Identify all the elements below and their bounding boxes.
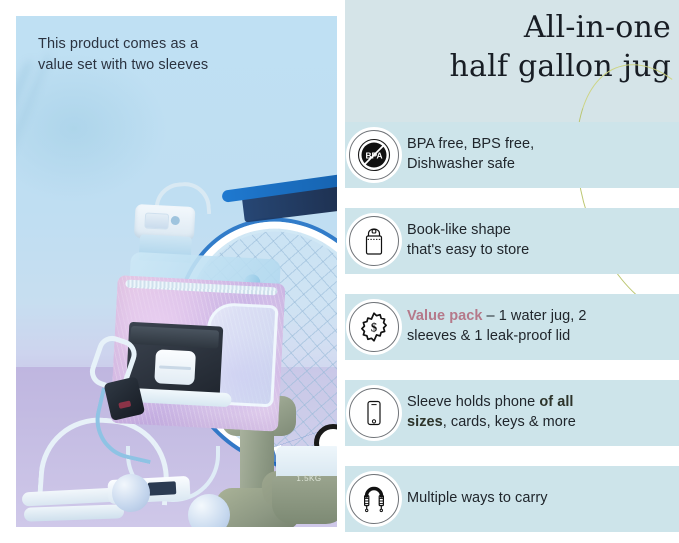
feature-line-2: Dishwasher safe (407, 155, 534, 175)
feature-text-sleeve-holds-phone: Sleeve holds phone of all sizes, cards, … (407, 393, 584, 432)
feature-line-2: that's easy to store (407, 241, 529, 261)
title-line-2: half gallon jug (351, 47, 671, 86)
feature-text-multiple-ways-to-carry: Multiple ways to carry (407, 489, 556, 509)
phone-text-em1: of all (539, 394, 573, 410)
feature-line-1: Value pack – 1 water jug, 2 (407, 307, 587, 327)
photo-caption-line-2: value set with two sleeves (38, 55, 268, 76)
feature-list: BPA BPA free, BPS free, Dishwasher safe (345, 122, 679, 543)
strap-icon (349, 474, 399, 524)
feature-line-1: BPA free, BPS free, (407, 135, 534, 155)
jug-lid-button (144, 212, 169, 229)
product-infographic: 1.5KG (0, 0, 679, 543)
feature-row-book-like-shape: Book-like shape that's easy to store (345, 208, 679, 274)
feature-line-1: Multiple ways to carry (407, 489, 548, 509)
row-spacer-1 (345, 188, 679, 208)
kettlebell-weight: 1.5KG (268, 446, 337, 524)
photo-caption: This product comes as a value set with t… (38, 34, 268, 75)
feature-text-value-pack: Value pack – 1 water jug, 2 sleeves & 1 … (407, 307, 595, 346)
row-spacer-2 (345, 274, 679, 294)
feature-line-1: Book-like shape (407, 221, 529, 241)
phone-icon (349, 388, 399, 438)
title-line-1: All-in-one (524, 10, 671, 45)
phone-text-rest: , cards, keys & more (443, 414, 576, 430)
kettlebell-body (272, 476, 337, 524)
title-block: All-in-one half gallon jug (345, 0, 679, 122)
bpa-free-icon: BPA (349, 130, 399, 180)
phone-text-pre: Sleeve holds phone (407, 394, 539, 410)
value-pack-rest: – 1 water jug, 2 (482, 308, 586, 324)
water-jug-with-sleeve (104, 189, 316, 437)
feature-row-value-pack: $ Value pack – 1 water jug, 2 sleeves & … (345, 294, 679, 360)
feature-text-bpa-free: BPA free, BPS free, Dishwasher safe (407, 135, 542, 174)
weight-label: 1.5KG (268, 474, 337, 483)
svg-text:$: $ (371, 321, 377, 335)
product-photo-frame: 1.5KG (8, 8, 345, 535)
row-spacer-3 (345, 360, 679, 380)
feature-row-bpa-free: BPA BPA free, BPS free, Dishwasher safe (345, 122, 679, 188)
feature-row-multiple-ways-to-carry: Multiple ways to carry (345, 466, 679, 532)
phone-text-em2: sizes (407, 414, 443, 430)
page-title: All-in-one half gallon jug (351, 8, 671, 86)
feature-line-2: sleeves & 1 leak-proof lid (407, 327, 587, 347)
bottle-icon (349, 216, 399, 266)
row-spacer-5 (345, 532, 679, 543)
value-pack-accent: Value pack (407, 308, 482, 324)
feature-text-book-like-shape: Book-like shape that's easy to store (407, 221, 537, 260)
row-spacer-4 (345, 446, 679, 466)
feature-line-2: sizes, cards, keys & more (407, 413, 576, 433)
info-panel: All-in-one half gallon jug BPA BPA free,… (345, 0, 679, 543)
photo-caption-line-1: This product comes as a (38, 34, 268, 55)
rope-handle-2 (24, 504, 124, 521)
feature-line-1: Sleeve holds phone of all (407, 393, 576, 413)
rope-handle-1 (22, 487, 119, 506)
product-photo: 1.5KG (16, 16, 337, 527)
jump-rope-counter-screen (148, 481, 177, 495)
value-badge-icon: $ (349, 302, 399, 352)
sleeve-zipper (125, 280, 277, 296)
ball-left (112, 474, 150, 512)
feature-row-sleeve-holds-phone: Sleeve holds phone of all sizes, cards, … (345, 380, 679, 446)
